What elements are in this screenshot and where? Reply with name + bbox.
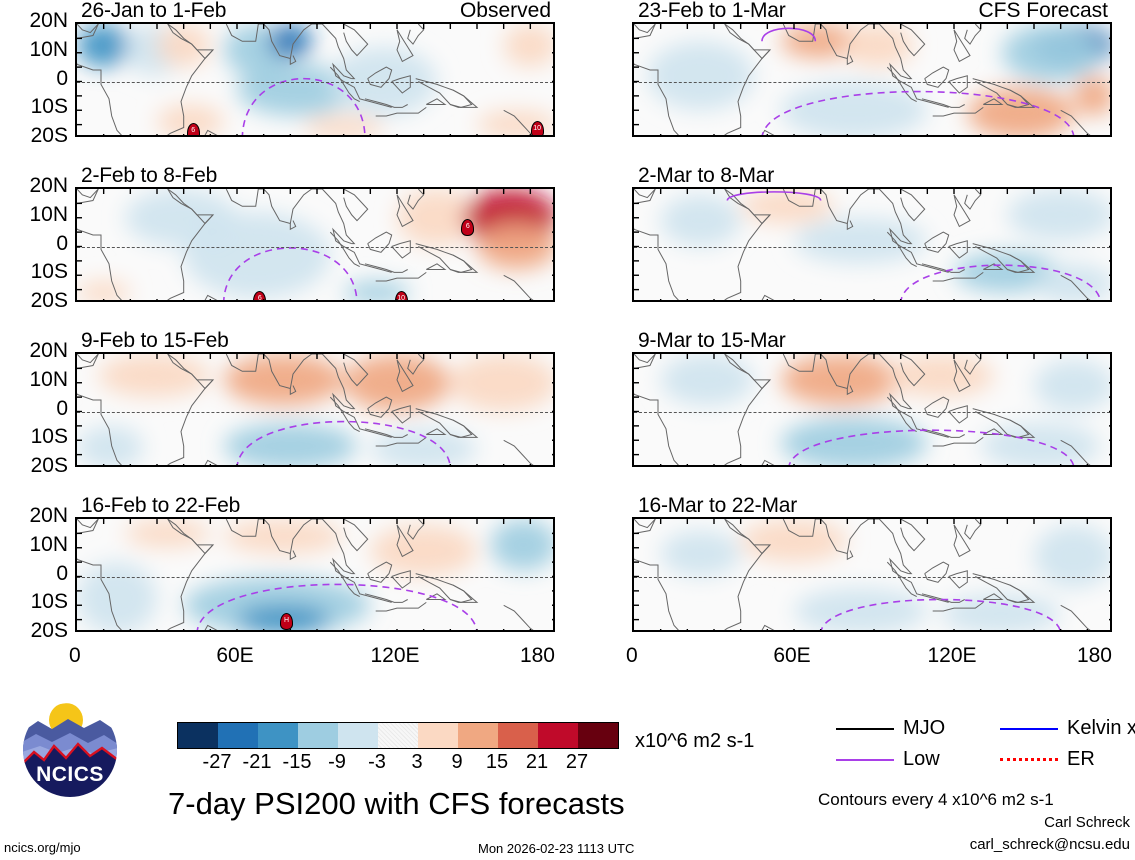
ytick-label-obs-3-1: 10N [4,368,68,392]
axis-ticks-fcst-4 [634,519,1112,632]
colorbar-tick-8: 21 [526,751,548,774]
map-panel-fcst-4 [632,517,1112,632]
colorbar [177,722,619,749]
xtick-label-obs-4-3: 180 [520,644,555,668]
ytick-label-obs-2-0: 20N [4,174,68,198]
axis-ticks-obs-1 [77,24,555,137]
legend-label-er: ER [1067,748,1095,771]
colorbar-swatch-3 [298,723,338,748]
ytick-label-obs-4-3: 10S [4,590,68,614]
panel-title-obs-1: 26-Jan to 1-Feb [81,0,226,23]
legend-line-mjo [836,728,894,730]
axis-ticks-fcst-2 [634,189,1112,302]
ytick-label-obs-3-2: 0 [4,397,68,421]
ytick-label-obs-1-4: 20S [4,124,68,148]
ytick-label-obs-3-0: 20N [4,339,68,363]
colorbar-swatch-0 [178,723,218,748]
colorbar-swatch-10 [578,723,618,748]
colorbar-swatch-5 [378,723,418,748]
map-panel-obs-1: 610 [75,22,555,137]
xtick-label-fcst-4-3: 180 [1077,644,1112,668]
map-panel-obs-4: H [75,517,555,632]
map-panel-fcst-3 [632,352,1112,467]
ytick-label-obs-4-0: 20N [4,504,68,528]
colorbar-tick-6: 9 [451,751,462,774]
ytick-label-obs-2-3: 10S [4,260,68,284]
panel-title-obs-4: 16-Feb to 22-Feb [81,494,240,518]
legend-item-low: Low [836,748,940,771]
colorbar-swatch-9 [538,723,578,748]
ytick-label-obs-2-1: 10N [4,203,68,227]
ytick-label-obs-4-1: 10N [4,533,68,557]
colorbar-tick-1: -21 [243,751,272,774]
colorbar-tick-2: -15 [283,751,312,774]
xtick-label-fcst-4-1: 60E [773,644,810,668]
map-panel-obs-2: 6106 [75,187,555,302]
legend-line-low [836,759,894,761]
axis-ticks-fcst-1 [634,24,1112,137]
author-email: carl_schreck@ncsu.edu [970,836,1130,853]
colorbar-swatch-8 [498,723,538,748]
column-header-0: Observed [460,0,551,23]
timestamp: Mon 2026-02-23 1113 UTC [478,841,634,856]
colorbar-swatch-7 [458,723,498,748]
legend-item-mjo: MJO [836,717,945,740]
xtick-label-obs-4-2: 120E [370,644,419,668]
colorbar-tick-3: -9 [328,751,346,774]
colorbar-swatch-2 [258,723,298,748]
colorbar-tick-9: 27 [566,751,588,774]
figure-main-title: 7-day PSI200 with CFS forecasts [168,786,625,822]
ytick-label-obs-4-4: 20S [4,619,68,643]
colorbar-swatch-1 [218,723,258,748]
ytick-label-obs-2-4: 20S [4,289,68,313]
legend-item-er: ER [1000,748,1095,771]
colorbar-swatch-4 [338,723,378,748]
ytick-label-obs-3-4: 20S [4,454,68,478]
xtick-label-fcst-4-0: 0 [626,644,638,668]
ncics-logo-text: NCICS [22,763,118,787]
legend-label-mjo: MJO [903,717,945,740]
site-url: ncics.org/mjo [4,840,81,855]
panel-title-obs-3: 9-Feb to 15-Feb [81,329,229,353]
column-header-1: CFS Forecast [978,0,1108,23]
map-panel-fcst-1 [632,22,1112,137]
legend-label-low: Low [903,748,940,771]
legend-line-er [1000,758,1058,761]
ytick-label-obs-3-3: 10S [4,425,68,449]
axis-ticks-obs-2 [77,189,555,302]
colorbar-tick-4: -3 [368,751,386,774]
panel-title-fcst-4: 16-Mar to 22-Mar [638,494,797,518]
panel-title-fcst-1: 23-Feb to 1-Mar [638,0,786,23]
colorbar-tick-5: 3 [411,751,422,774]
panel-title-fcst-3: 9-Mar to 15-Mar [638,329,786,353]
ytick-label-obs-1-0: 20N [4,9,68,33]
map-panel-obs-3 [75,352,555,467]
legend-label-kelvin-x2: Kelvin x2 [1067,717,1135,740]
ytick-label-obs-1-3: 10S [4,95,68,119]
ncics-logo: NCICS [22,702,118,798]
panel-title-fcst-2: 2-Mar to 8-Mar [638,164,774,188]
axis-ticks-obs-4 [77,519,555,632]
map-panel-fcst-2 [632,187,1112,302]
colorbar-tick-0: -27 [203,751,232,774]
ytick-label-obs-1-2: 0 [4,67,68,91]
ytick-label-obs-2-2: 0 [4,232,68,256]
axis-ticks-obs-3 [77,354,555,467]
colorbar-tick-7: 15 [486,751,508,774]
ytick-label-obs-4-2: 0 [4,562,68,586]
xtick-label-obs-4-0: 0 [69,644,81,668]
contour-note: Contours every 4 x10^6 m2 s-1 [818,790,1054,810]
ytick-label-obs-1-1: 10N [4,38,68,62]
panel-title-obs-2: 2-Feb to 8-Feb [81,164,217,188]
legend-item-kelvin-x2: Kelvin x2 [1000,717,1135,740]
xtick-label-obs-4-1: 60E [216,644,253,668]
colorbar-units: x10^6 m2 s-1 [635,730,754,753]
colorbar-swatch-6 [418,723,458,748]
legend-line-kelvin-x2 [1000,728,1058,730]
xtick-label-fcst-4-2: 120E [927,644,976,668]
author-name: Carl Schreck [1044,814,1130,831]
axis-ticks-fcst-3 [634,354,1112,467]
